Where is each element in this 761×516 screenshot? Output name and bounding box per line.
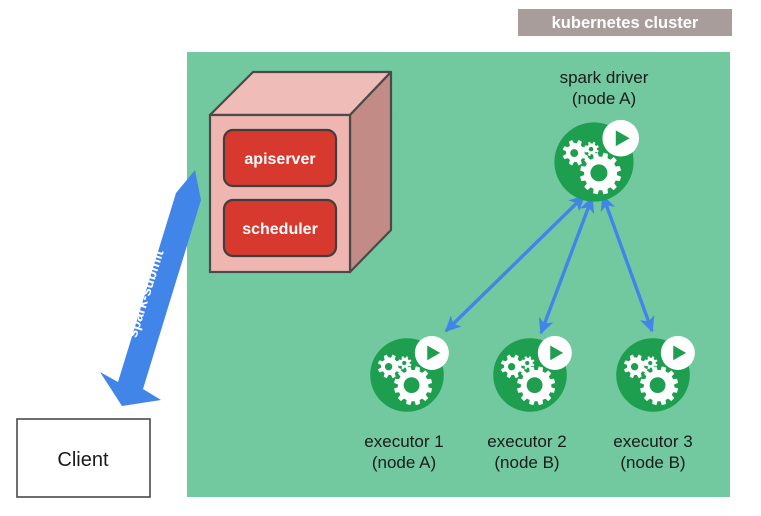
spark-driver-title-line1: spark driver (560, 68, 649, 87)
spark-submit-arrow: spark-submit (100, 170, 201, 406)
service-box-apiserver[interactable]: apiserver (224, 130, 336, 186)
cluster-label: kubernetes cluster (552, 14, 699, 32)
spark-on-kubernetes-diagram: kubernetes cluster apiserver scheduler (0, 0, 761, 516)
executor-2-title-line1: executor 2 (487, 432, 566, 451)
executor-2-title-line2: (node B) (494, 453, 559, 472)
executor-3-title-line1: executor 3 (613, 432, 692, 451)
spark-driver-title-line2: (node A) (572, 89, 636, 108)
apiserver-label: apiserver (244, 151, 315, 168)
service-box-scheduler[interactable]: scheduler (224, 200, 336, 256)
client-label: Client (57, 449, 109, 471)
scheduler-label: scheduler (242, 221, 318, 238)
executor-3-title-line2: (node B) (620, 453, 685, 472)
kubernetes-control-plane-cube: apiserver scheduler (210, 72, 391, 272)
client-node[interactable]: Client (17, 419, 150, 497)
executor-1-title-line1: executor 1 (364, 432, 443, 451)
executor-1-title-line2: (node A) (372, 453, 436, 472)
